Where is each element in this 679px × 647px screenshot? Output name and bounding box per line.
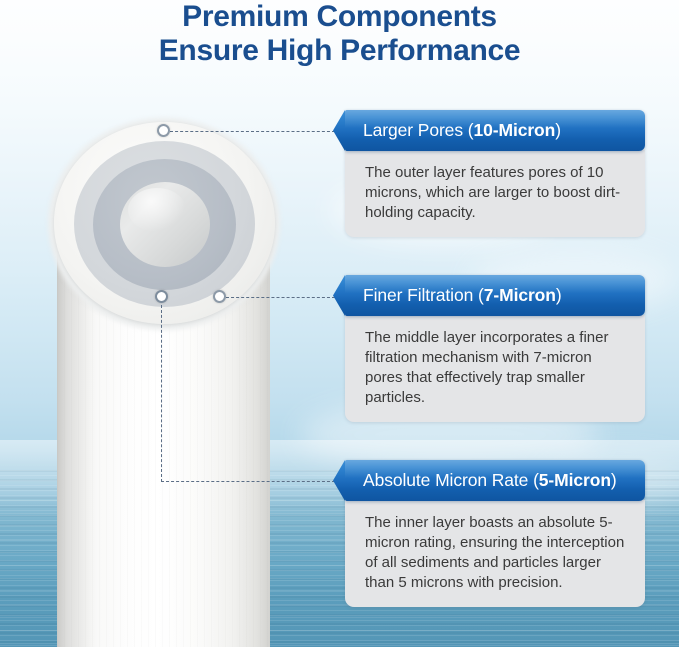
callout-body-3: The inner layer boasts an absolute 5-mic… <box>345 500 645 607</box>
connector-line-callout-3-horizontal <box>161 481 335 482</box>
title-line-2: Ensure High Performance <box>0 34 679 68</box>
marker-dot-middle-layer <box>213 290 226 303</box>
callout-title-3-bold: 5-Micron <box>539 470 611 490</box>
filter-cartridge-illustration <box>40 118 290 647</box>
marker-dot-inner-layer <box>155 290 168 303</box>
callout-body-1: The outer layer features pores of 10 mic… <box>345 150 645 237</box>
connector-line-callout-2 <box>226 297 335 298</box>
callout-title-1-tail: ) <box>555 120 561 140</box>
callout-title-3-tail: ) <box>611 470 617 490</box>
callout-body-2: The middle layer incorporates a finer fi… <box>345 315 645 422</box>
callout-header-2[interactable]: Finer Filtration (7-Micron) <box>345 275 645 316</box>
connector-line-callout-3-vertical <box>161 300 162 482</box>
callout-title-3: Absolute Micron Rate (5-Micron) <box>345 470 617 491</box>
cartridge-core-highlight <box>128 188 186 232</box>
callout-title-1-bold: 10-Micron <box>473 120 555 140</box>
connector-line-callout-1 <box>170 131 335 132</box>
infographic-stage: Premium Components Ensure High Performan… <box>0 0 679 647</box>
page-title: Premium Components Ensure High Performan… <box>0 0 679 68</box>
marker-dot-outer-layer <box>157 124 170 137</box>
callout-title-1: Larger Pores (10-Micron) <box>345 120 561 141</box>
callout-card-larger-pores[interactable]: Larger Pores (10-Micron) The outer layer… <box>333 110 645 237</box>
callout-title-1-plain: Larger Pores ( <box>363 120 473 140</box>
callout-card-absolute-micron-rate[interactable]: Absolute Micron Rate (5-Micron) The inne… <box>333 460 645 607</box>
callout-title-2-tail: ) <box>556 285 562 305</box>
callout-title-3-plain: Absolute Micron Rate ( <box>363 470 539 490</box>
callout-header-1[interactable]: Larger Pores (10-Micron) <box>345 110 645 151</box>
callout-title-2: Finer Filtration (7-Micron) <box>345 285 562 306</box>
callout-header-3[interactable]: Absolute Micron Rate (5-Micron) <box>345 460 645 501</box>
callout-title-2-plain: Finer Filtration ( <box>363 285 484 305</box>
title-line-1: Premium Components <box>182 0 497 33</box>
callout-title-2-bold: 7-Micron <box>484 285 556 305</box>
callout-card-finer-filtration[interactable]: Finer Filtration (7-Micron) The middle l… <box>333 275 645 422</box>
